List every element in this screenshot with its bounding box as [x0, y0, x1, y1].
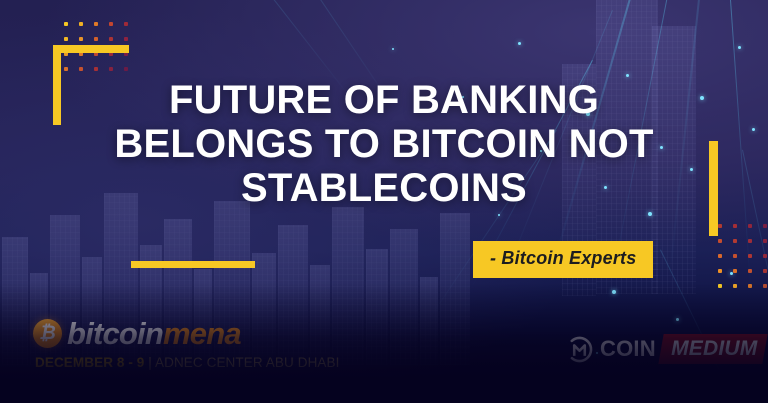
- page-title: FUTURE OF BANKING BELONGS TO BITCOIN NOT…: [64, 78, 704, 210]
- headline-line-3: STABLECOINS: [64, 166, 704, 210]
- promo-banner: FUTURE OF BANKING BELONGS TO BITCOIN NOT…: [0, 0, 768, 403]
- accent-bar-bottom-left: [131, 261, 255, 268]
- headline-line-2: BELONGS TO BITCOIN NOT: [64, 122, 704, 166]
- dot-grid-bottom-right: [718, 224, 768, 288]
- bottom-fade-overlay: [0, 283, 768, 403]
- attribution-badge: - Bitcoin Experts: [473, 241, 653, 278]
- accent-bar-right: [709, 141, 718, 236]
- headline-line-1: FUTURE OF BANKING: [64, 78, 704, 122]
